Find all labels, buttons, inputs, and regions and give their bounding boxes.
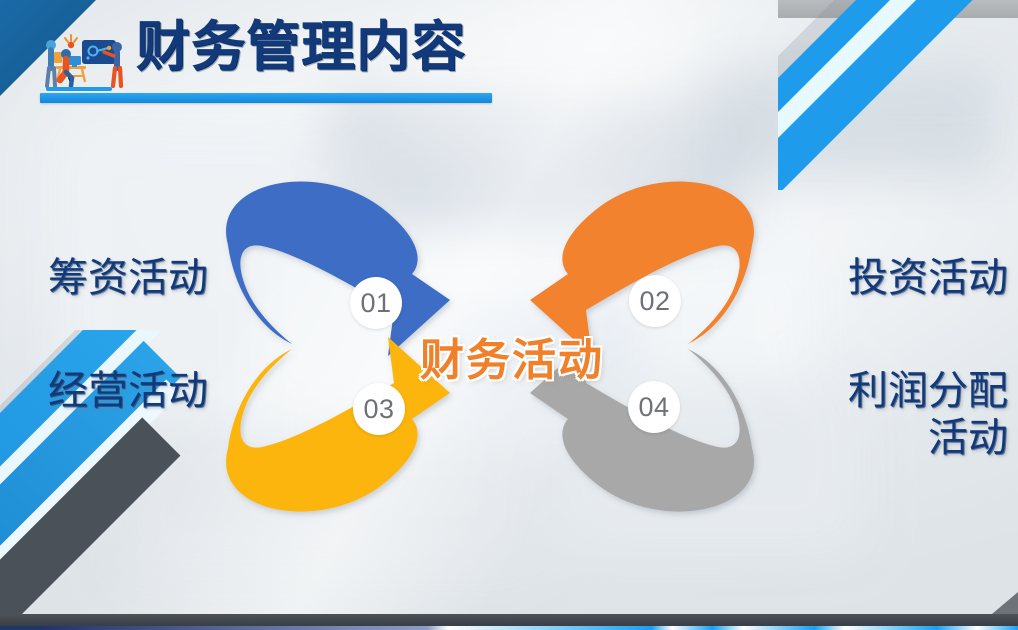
label-activity-01: 筹资活动 xyxy=(48,255,208,302)
page-title: 财务管理内容 xyxy=(136,20,466,74)
step-badge-04[interactable]: 04 xyxy=(628,381,680,433)
arrow-03-yellow xyxy=(226,337,450,512)
label-activity-03: 经营活动 xyxy=(48,368,208,415)
slide-header: 财务管理内容 xyxy=(32,22,552,102)
title-underline-rule xyxy=(40,93,492,103)
arrow-01-blue xyxy=(226,181,450,356)
step-badge-04-label: 04 xyxy=(638,392,669,423)
label-activity-02: 投资活动 xyxy=(848,255,1008,302)
step-badge-01-label: 01 xyxy=(360,288,391,319)
step-badge-02-label: 02 xyxy=(639,286,670,317)
step-badge-02[interactable]: 02 xyxy=(629,275,681,327)
step-badge-03-label: 03 xyxy=(363,394,394,425)
bottom-cutoff-content-sliver xyxy=(0,626,1018,630)
presentation-slide: 财务管理内容 xyxy=(0,0,1018,630)
teamwork-illustration-icon xyxy=(38,28,130,96)
center-label: 财务活动 xyxy=(420,324,604,388)
label-activity-04: 利润分配活动 xyxy=(828,368,1008,462)
step-badge-03[interactable]: 03 xyxy=(353,383,405,435)
step-badge-01[interactable]: 01 xyxy=(350,277,402,329)
